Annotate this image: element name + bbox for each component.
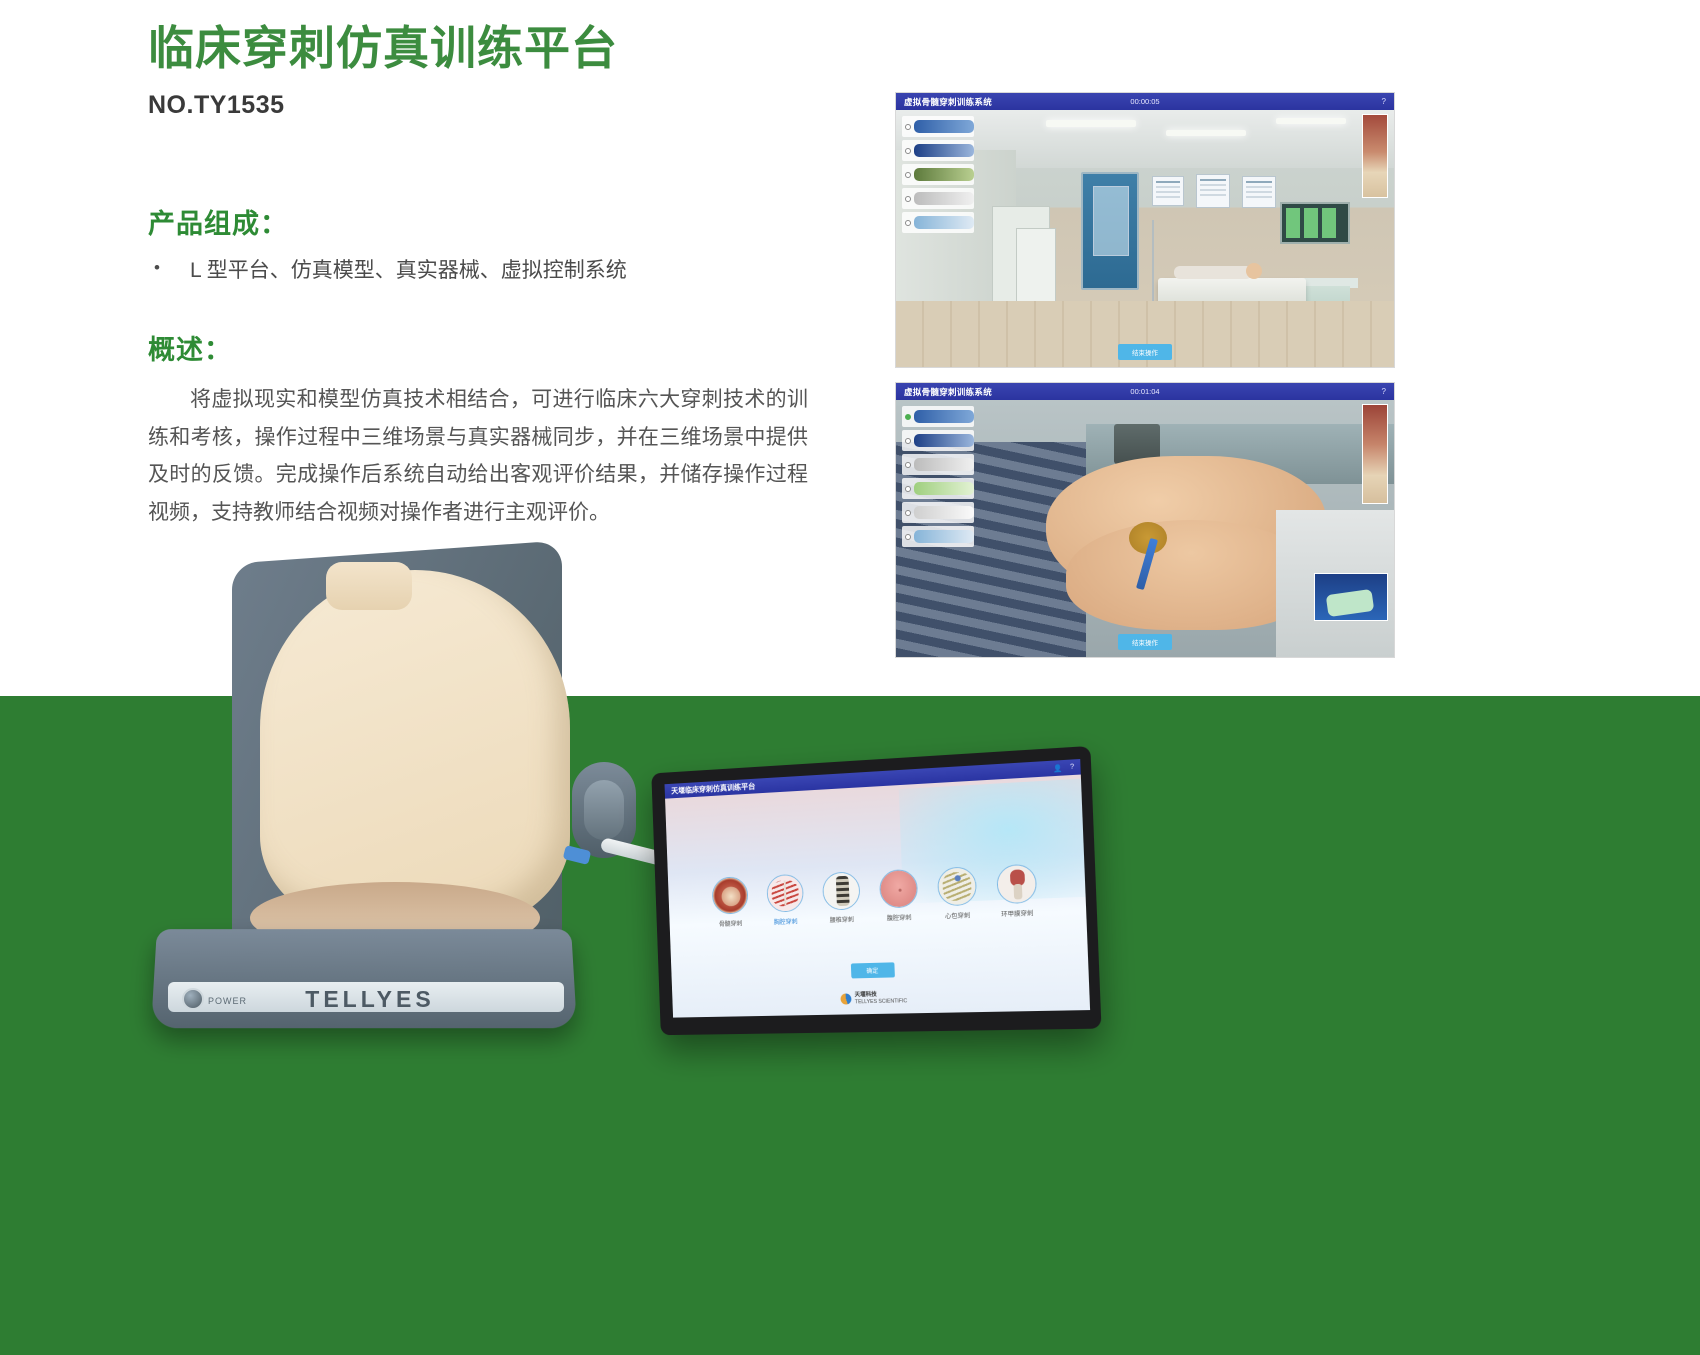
help-icon[interactable]: ? (1382, 387, 1386, 396)
syringe-icon (914, 192, 974, 205)
picture-in-picture-view (1314, 573, 1388, 621)
radio-icon[interactable] (905, 486, 911, 492)
ceiling-light (1276, 118, 1346, 124)
screenshot-title-bar: 虚拟骨髓穿刺训练系统 00:01:04 ? (896, 383, 1394, 400)
procedure-label: 腰椎穿刺 (819, 914, 864, 925)
lumbar-spine-icon[interactable] (822, 871, 861, 910)
procedure-label: 环甲膜穿刺 (993, 908, 1041, 919)
action-button[interactable]: 结束操作 (1118, 344, 1172, 360)
swab-icon (914, 168, 974, 181)
swab-icon (914, 482, 974, 495)
pericardial-icon[interactable] (936, 866, 976, 906)
gauze-icon (914, 216, 974, 229)
door-window (1093, 186, 1129, 256)
screenshot-body: 结束操作 (896, 400, 1394, 657)
wall-poster (1242, 176, 1276, 208)
tool-option[interactable] (902, 116, 974, 137)
power-button[interactable] (182, 988, 204, 1010)
tool-option[interactable] (902, 526, 974, 547)
platform-base (151, 929, 577, 1028)
radio-icon[interactable] (905, 510, 911, 516)
procedure-item-thoracic[interactable]: 胸腔穿刺 (762, 874, 808, 927)
patient-body (1174, 266, 1252, 279)
composition-item-label: L 型平台、仿真模型、真实器械、虚拟控制系统 (174, 255, 627, 287)
instrument-tool-rail[interactable] (902, 406, 974, 550)
help-icon[interactable]: ? (1382, 97, 1386, 106)
procedure-label: 心包穿刺 (934, 910, 981, 921)
power-label: POWER (208, 996, 247, 1006)
company-logo: 天堰科技 TELLYES SCIENTIFIC (840, 991, 907, 1006)
radio-icon[interactable] (905, 124, 911, 130)
screenshot-panel-exam-room: 虚拟骨髓穿刺训练系统 00:00:05 ? (895, 92, 1395, 368)
wall-poster (1196, 174, 1230, 208)
section-heading-composition: 产品组成： (148, 202, 848, 241)
tool-option[interactable] (902, 454, 974, 475)
screenshot-title-bar: 虚拟骨髓穿刺训练系统 00:00:05 ? (896, 93, 1394, 110)
logo-mark-icon (840, 993, 851, 1004)
procedure-label: 腹腔穿刺 (876, 912, 922, 923)
procedure-item-pericardial[interactable]: 心包穿刺 (932, 866, 981, 921)
ceiling-light (1166, 130, 1246, 136)
tool-option[interactable] (902, 212, 974, 233)
start-button[interactable]: 确定 (850, 962, 894, 978)
needle-icon (914, 144, 974, 157)
screenshot-panel-closeup: 虚拟骨髓穿刺训练系统 00:01:04 ? 结束操作 (895, 382, 1395, 658)
radio-icon-selected[interactable] (905, 414, 911, 420)
tissue-layer-indicator (1362, 114, 1388, 198)
overview-paragraph: 将虚拟现实和模型仿真技术相结合，可进行临床六大穿刺技术的训练和考核，操作过程中三… (148, 381, 808, 531)
screenshot-title: 虚拟骨髓穿刺训练系统 (896, 96, 992, 108)
gloved-hand (1326, 589, 1375, 617)
wall-poster (1152, 176, 1184, 206)
screenshot-timer: 00:01:04 (1130, 387, 1159, 396)
procedure-label: 胸腔穿刺 (764, 916, 808, 926)
control-tablet: 天堰临床穿刺仿真训练平台 👤 ? 骨髓穿刺 胸腔穿刺 腰椎穿刺 (651, 746, 1101, 1035)
logo-sub: TELLYES SCIENTIFIC (855, 998, 907, 1005)
radio-icon[interactable] (905, 220, 911, 226)
screenshot-body: 结束操作 (896, 110, 1394, 367)
door (1081, 172, 1139, 290)
tablet-main-stage: 骨髓穿刺 胸腔穿刺 腰椎穿刺 腹腔穿刺 心包穿刺 (665, 775, 1090, 1018)
needle-icon (914, 410, 974, 423)
training-platform-product-photo: POWER TELLYES (140, 530, 700, 1090)
screenshot-timer: 00:00:05 (1130, 97, 1159, 106)
needle-icon (914, 120, 974, 133)
radio-icon[interactable] (905, 438, 911, 444)
manikin-shoulder-plate (326, 562, 412, 610)
radio-icon[interactable] (905, 172, 911, 178)
screenshot-title: 虚拟骨髓穿刺训练系统 (896, 386, 992, 398)
manikin-torso (260, 570, 570, 930)
procedure-label: 骨髓穿刺 (709, 918, 753, 928)
radio-icon[interactable] (905, 196, 911, 202)
procedure-item-cricothyroid[interactable]: 环甲膜穿刺 (992, 864, 1042, 919)
procedure-selector-row: 骨髓穿刺 胸腔穿刺 腰椎穿刺 腹腔穿刺 心包穿刺 (668, 862, 1086, 930)
tool-option[interactable] (902, 164, 974, 185)
procedure-item-abdominal[interactable]: 腹腔穿刺 (874, 869, 922, 923)
action-button[interactable]: 结束操作 (1118, 634, 1172, 650)
help-icon[interactable]: ? (1070, 764, 1074, 771)
equipment-monitor (1280, 202, 1350, 244)
product-number: NO.TY1535 (148, 91, 848, 120)
bullet-icon: • (148, 255, 174, 281)
radio-icon[interactable] (905, 534, 911, 540)
tablet-screen: 天堰临床穿刺仿真训练平台 👤 ? 骨髓穿刺 胸腔穿刺 腰椎穿刺 (665, 759, 1091, 1018)
radio-icon[interactable] (905, 462, 911, 468)
titlebar-icons: 👤 ? (1053, 763, 1074, 772)
instrument-tool-rail[interactable] (902, 116, 974, 236)
text-column: 临床穿刺仿真训练平台 NO.TY1535 产品组成： • L 型平台、仿真模型、… (148, 22, 848, 531)
tool-option[interactable] (902, 406, 974, 427)
ceiling-light (1046, 120, 1136, 127)
list-item: • L 型平台、仿真模型、真实器械、虚拟控制系统 (148, 255, 848, 287)
patient-head (1246, 263, 1262, 279)
tool-option[interactable] (902, 430, 974, 451)
scalpel-icon (914, 506, 974, 519)
tool-option[interactable] (902, 478, 974, 499)
tool-option[interactable] (902, 188, 974, 209)
procedure-item-lumbar[interactable]: 腰椎穿刺 (818, 871, 865, 924)
syringe-icon (914, 458, 974, 471)
thoracic-icon[interactable] (766, 874, 804, 913)
abdominal-icon[interactable] (878, 869, 917, 909)
patient (1174, 260, 1284, 282)
page-title: 临床穿刺仿真训练平台 (148, 22, 848, 75)
user-icon[interactable]: 👤 (1053, 764, 1063, 773)
gauze-icon (914, 530, 974, 543)
radio-icon[interactable] (905, 148, 911, 154)
tool-option[interactable] (902, 502, 974, 523)
bone-marrow-icon[interactable] (711, 876, 748, 914)
logo-text: 天堰科技 TELLYES SCIENTIFIC (855, 991, 908, 1006)
tool-option[interactable] (902, 140, 974, 161)
cricothyroid-icon[interactable] (996, 864, 1037, 905)
procedure-item-bone-marrow[interactable]: 骨髓穿刺 (707, 876, 752, 928)
needle-icon (914, 434, 974, 447)
section-heading-overview: 概述： (148, 328, 848, 367)
tissue-layer-indicator (1362, 404, 1388, 504)
brand-logo: TELLYES (290, 986, 450, 1013)
